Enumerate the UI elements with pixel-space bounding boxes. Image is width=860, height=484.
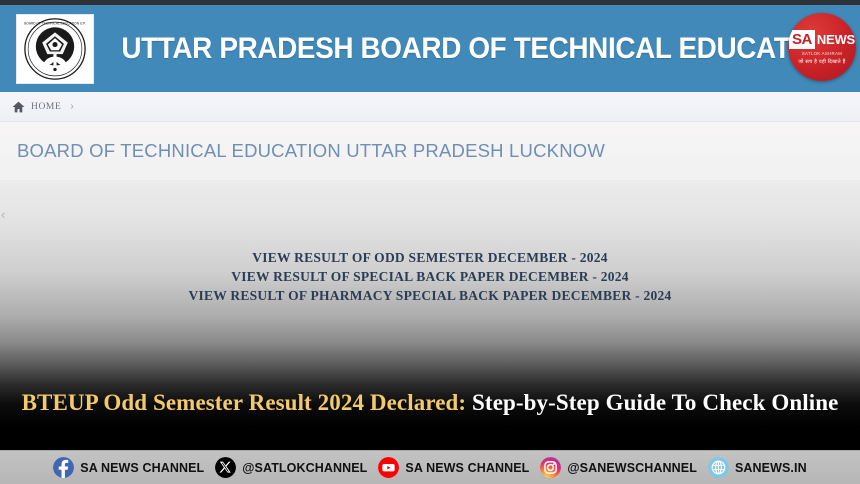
carousel-prev-arrow[interactable]: ‹ <box>1 208 5 221</box>
home-icon <box>12 101 25 113</box>
result-link-special-back-paper[interactable]: VIEW RESULT OF SPECIAL BACK PAPER DECEMB… <box>0 267 860 286</box>
caption-highlight: BTEUP Odd Semester Result 2024 Declared: <box>22 390 467 415</box>
site-header: BOARD OF TECHNICAL EDUCATION U.P. UTTAR … <box>0 5 860 92</box>
social-item-website[interactable]: SANEWS.IN <box>708 457 807 478</box>
site-title: UTTAR PRADESH BOARD OF TECHNICAL EDUCATI… <box>121 32 848 66</box>
board-emblem-icon: BOARD OF TECHNICAL EDUCATION U.P. <box>23 17 87 81</box>
board-logo: BOARD OF TECHNICAL EDUCATION U.P. <box>16 14 94 84</box>
social-label-instagram: @SANEWSCHANNEL <box>567 461 697 475</box>
sa-badge-sa-text: SA <box>789 30 815 49</box>
social-label-website: SANEWS.IN <box>735 461 807 475</box>
youtube-icon <box>378 457 399 478</box>
social-item-x[interactable]: @SATLOKCHANNEL <box>215 457 367 478</box>
social-item-youtube[interactable]: SA NEWS CHANNEL <box>378 457 529 478</box>
x-twitter-icon <box>215 457 236 478</box>
result-links-list: VIEW RESULT OF ODD SEMESTER DECEMBER - 2… <box>0 248 860 305</box>
caption-rest: Step-by-Step Guide To Check Online <box>466 390 838 415</box>
social-label-youtube: SA NEWS CHANNEL <box>405 461 529 475</box>
result-link-pharmacy-special-back-paper[interactable]: VIEW RESULT OF PHARMACY SPECIAL BACK PAP… <box>0 286 860 305</box>
sa-badge-tagline-hi: जो सच है वही दिखाते हैं <box>798 59 845 65</box>
screenshot-root: BOARD OF TECHNICAL EDUCATION U.P. UTTAR … <box>0 0 860 484</box>
social-item-instagram[interactable]: @SANEWSCHANNEL <box>540 457 697 478</box>
social-item-facebook[interactable]: SA NEWS CHANNEL <box>53 457 204 478</box>
caption-headline: BTEUP Odd Semester Result 2024 Declared:… <box>0 390 860 416</box>
result-link-odd-semester[interactable]: VIEW RESULT OF ODD SEMESTER DECEMBER - 2… <box>0 248 860 267</box>
breadcrumb: HOME › <box>0 92 860 122</box>
social-footer: SA NEWS CHANNEL @SATLOKCHANNEL SA NEWS C… <box>0 450 860 484</box>
emblem-ring-text: BOARD OF TECHNICAL EDUCATION U.P. <box>24 21 86 25</box>
social-label-facebook: SA NEWS CHANNEL <box>80 461 204 475</box>
sa-badge-news-text: NEWS <box>817 33 855 46</box>
page-title: BOARD OF TECHNICAL EDUCATION UTTAR PRADE… <box>17 140 605 162</box>
social-label-x: @SATLOKCHANNEL <box>242 461 367 475</box>
page-heading-bar: BOARD OF TECHNICAL EDUCATION UTTAR PRADE… <box>0 122 860 180</box>
instagram-icon <box>540 457 561 478</box>
facebook-icon <box>53 457 74 478</box>
sa-news-badge: SA NEWS SATLOK ASHRAM जो सच है वही दिखात… <box>788 13 856 81</box>
breadcrumb-item-home[interactable]: HOME <box>31 102 61 112</box>
chevron-right-icon: › <box>70 101 73 112</box>
website-icon <box>708 457 729 478</box>
sa-badge-tagline-en: SATLOK ASHRAM <box>802 51 842 56</box>
